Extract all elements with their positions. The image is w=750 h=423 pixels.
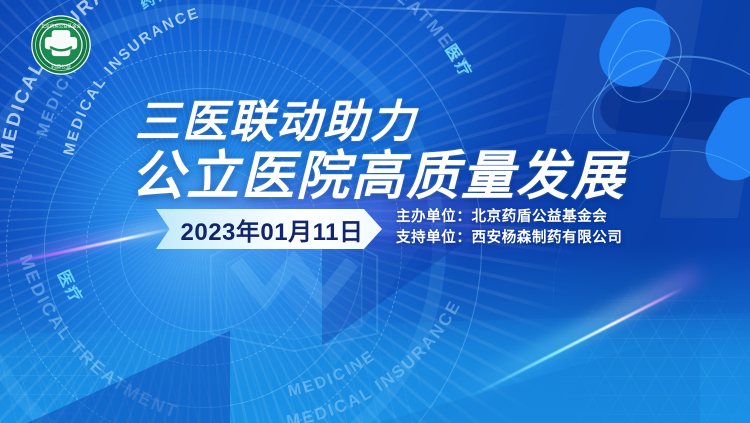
date-text: 2023年01月11日 (175, 212, 364, 247)
foundation-logo: 北京药盾公益基金会 药盾公益 (30, 14, 92, 76)
headline-line-2: 公立医院高质量发展 (131, 150, 631, 203)
arc-label-medical-treatment: MEDICAL TREATMENT (272, 0, 474, 77)
organizer-supporter: 支持单位：西安杨森制药有限公司 (396, 228, 623, 249)
arc-label-yaopin: 药品 (136, 0, 175, 13)
conference-banner: MEDICAL INSURANCE 医保 MEDICAL TREATMENT 医… (0, 0, 750, 423)
organizer-block: 主办单位：北京药盾公益基金会 支持单位：西安杨森制药有限公司 (396, 207, 623, 249)
date-badge: 2023年01月11日 (156, 209, 382, 249)
logo-ring-text-top: 北京药盾公益基金会 (41, 23, 82, 30)
headline-block: 三医联动助力 公立医院高质量发展 (131, 99, 631, 203)
organizer-host: 主办单位：北京药盾公益基金会 (396, 207, 623, 228)
headline-line-1: 三医联动助力 (135, 99, 631, 144)
